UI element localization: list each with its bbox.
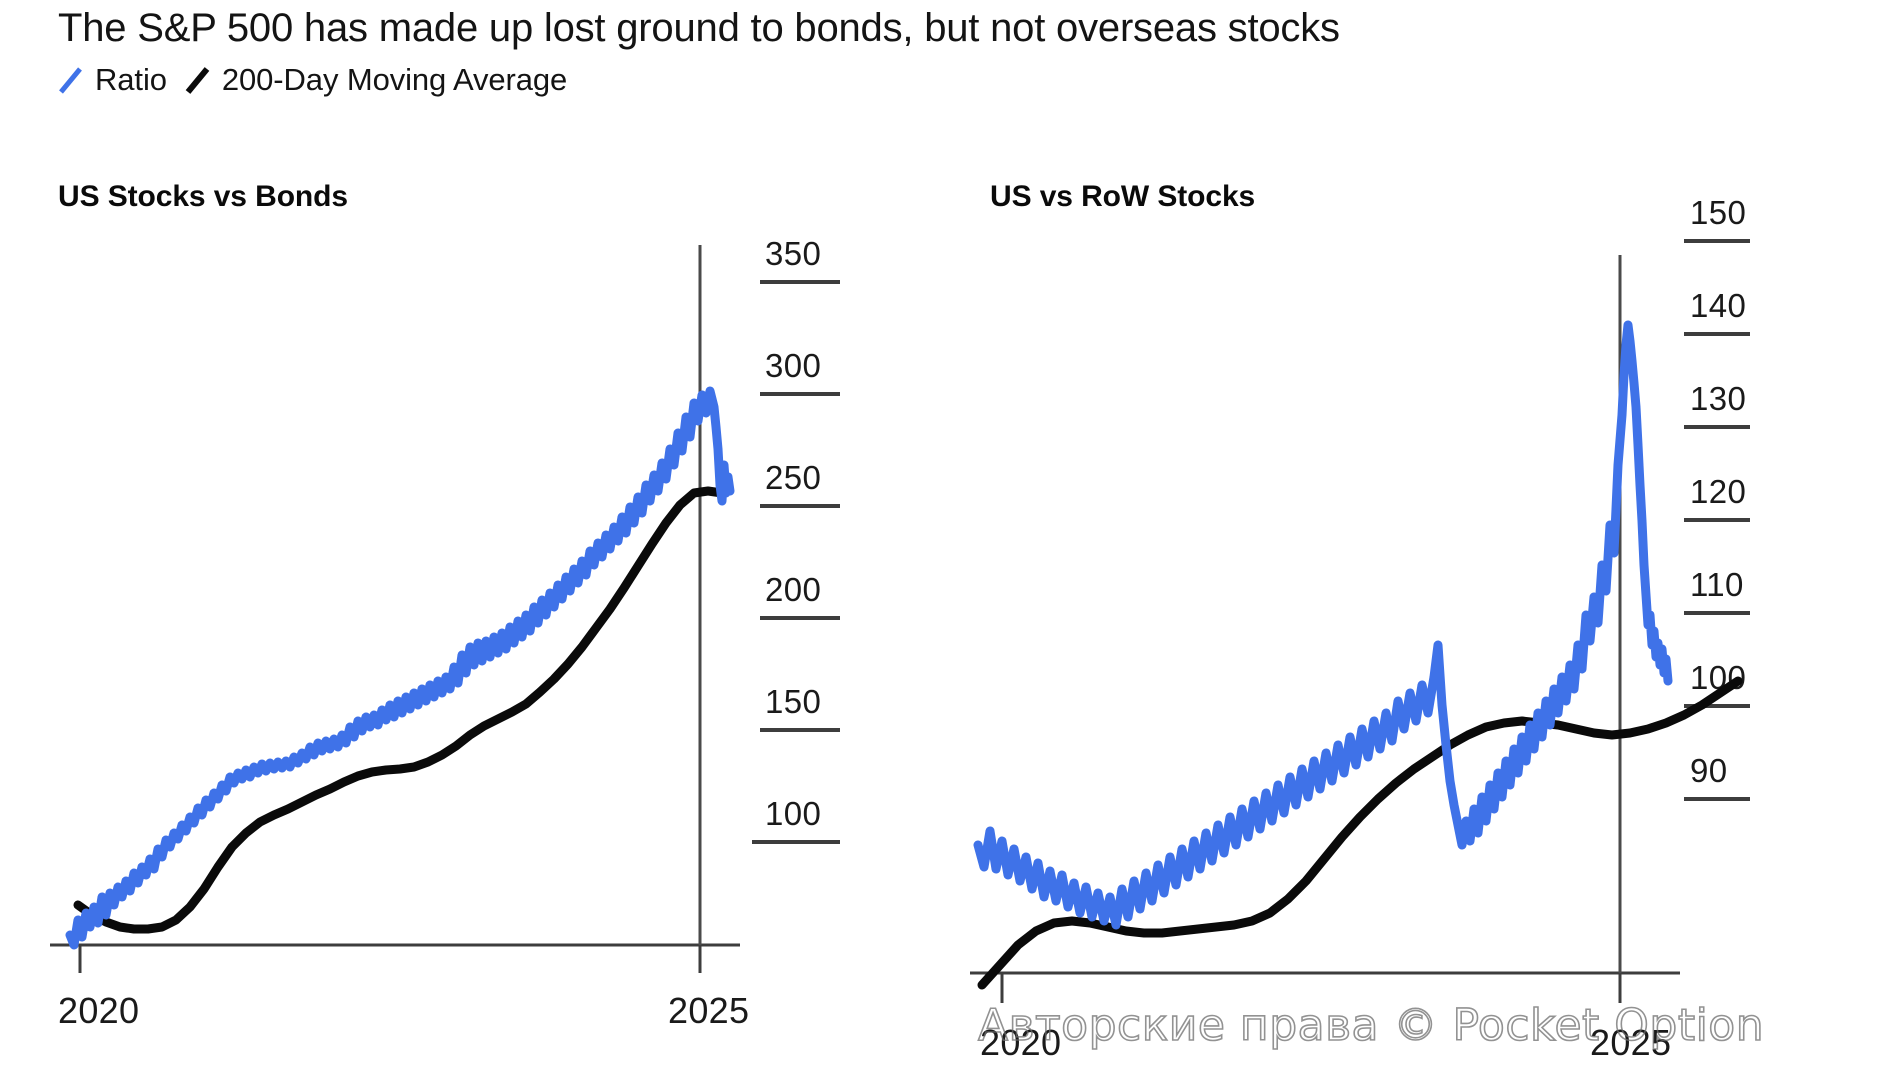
y-tick-label: 110: [1690, 566, 1744, 603]
y-tick-label: 120: [1690, 473, 1746, 510]
y-tick-label: 350: [765, 235, 821, 272]
y-tick-labels: 150 140 130 120 110 100 90: [1690, 194, 1746, 789]
diagonal-line-swatch-icon: [58, 65, 84, 95]
y-tick-label: 300: [765, 347, 821, 384]
chart-panel-us-vs-row-stocks: US vs RoW Stocks 150 140 130 120: [960, 145, 1880, 1065]
series-line-ratio: [978, 325, 1668, 925]
x-tick-label: 2025: [1590, 1022, 1671, 1063]
y-tick-marks: [1684, 241, 1750, 799]
y-tick-label: 100: [765, 795, 821, 832]
x-tick-label: 2020: [58, 990, 139, 1031]
legend-item-moving-average: 200-Day Moving Average: [185, 62, 567, 98]
y-tick-label: 140: [1690, 287, 1746, 324]
chart-legend: Ratio 200-Day Moving Average: [58, 62, 567, 98]
x-tick-marks: [1002, 973, 1620, 1003]
diagonal-line-swatch-icon: [185, 65, 211, 95]
y-tick-label: 150: [765, 683, 821, 720]
chart-page: The S&P 500 has made up lost ground to b…: [0, 0, 1900, 1075]
y-tick-label: 150: [1690, 194, 1746, 231]
chart-panel-us-stocks-vs-bonds: US Stocks vs Bonds 350 300 250 200: [40, 145, 920, 1065]
x-tick-label: 2025: [668, 990, 749, 1031]
legend-label-moving-average: 200-Day Moving Average: [222, 62, 567, 98]
y-tick-label: 200: [765, 571, 821, 608]
plot-us-vs-row-stocks: 150 140 130 120 110 100 90 2020 2025: [960, 145, 1880, 1065]
y-tick-labels: 350 300 250 200 150 100: [765, 235, 821, 832]
plot-us-stocks-vs-bonds: 350 300 250 200 150 100 2020 2025: [40, 145, 920, 1065]
y-tick-label: 90: [1690, 752, 1728, 789]
legend-item-ratio: Ratio: [58, 62, 167, 98]
x-tick-marks: [80, 945, 700, 973]
page-title: The S&P 500 has made up lost ground to b…: [58, 6, 1340, 51]
series-line-ratio: [70, 391, 730, 945]
y-tick-label: 130: [1690, 380, 1746, 417]
legend-label-ratio: Ratio: [95, 62, 167, 98]
y-tick-label: 250: [765, 459, 821, 496]
x-tick-label: 2020: [980, 1022, 1061, 1063]
